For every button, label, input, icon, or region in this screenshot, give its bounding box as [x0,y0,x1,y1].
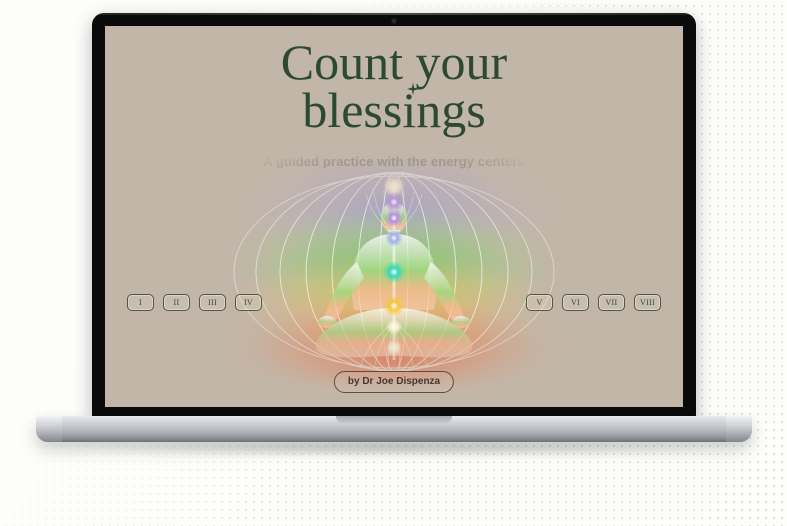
energy-field-illustration [194,172,594,372]
energy-center-badge-8[interactable]: VIII [634,294,661,311]
energy-center-badge-5[interactable]: V [526,294,553,311]
energy-center-badge-1[interactable]: I [127,294,154,311]
energy-center-badges-right: V VI VII VIII [526,294,661,311]
energy-center-badge-3[interactable]: III [199,294,226,311]
byline-pill: by Dr Joe Dispenza [334,371,454,393]
laptop-mockup: Count your blessings A guided practice w… [0,0,787,526]
laptop-screen[interactable]: Count your blessings A guided practice w… [105,26,683,407]
badge-label: II [174,299,180,307]
energy-center-badge-4[interactable]: IV [235,294,262,311]
aura-edge-vignette [154,142,634,402]
badge-label: V [536,299,542,307]
slide-title: Count your blessings [105,38,683,134]
title-line-2: blessings [302,82,485,138]
sparkle-icon [406,82,420,96]
laptop-base-left-cap [36,416,62,442]
energy-center-badge-7[interactable]: VII [598,294,625,311]
energy-center-badges-left: I II III IV [127,294,262,311]
laptop-base-right-cap [726,416,752,442]
energy-center-badge-6[interactable]: VI [562,294,589,311]
badge-label: VII [605,299,617,307]
badge-label: VIII [640,299,655,307]
laptop-lid: Count your blessings A guided practice w… [92,13,696,418]
laptop-base [36,416,752,442]
camera-dot-icon [392,19,396,23]
energy-center-badge-2[interactable]: II [163,294,190,311]
page-root: Count your blessings A guided practice w… [0,0,787,526]
presentation-slide: Count your blessings A guided practice w… [105,26,683,407]
badge-label: IV [244,299,253,307]
laptop-drop-shadow [60,440,728,456]
badge-label: III [208,299,217,307]
badge-label: I [139,299,142,307]
badge-label: VI [571,299,580,307]
title-line-1: Count your [105,38,683,86]
laptop-base-notch [336,416,452,423]
